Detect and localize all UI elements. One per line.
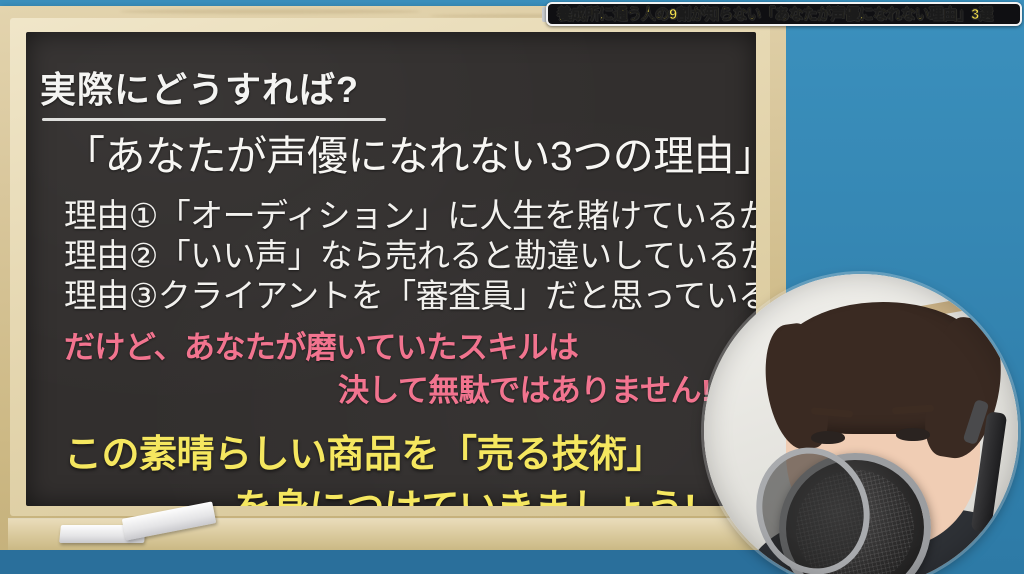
reason-item-3: 理由③クライアントを「審査員」だと思っているから	[64, 279, 756, 312]
presenter-eye-left	[811, 431, 845, 444]
highlight-pink-line-1: だけど、あなたが磨いていたスキルは	[64, 332, 578, 363]
video-title-banner: 養成所に通う人の9割が知らない「あなたが声優になれない理由」3選	[546, 2, 1022, 26]
presenter-eye-right	[896, 428, 930, 441]
page-title: 実際にどうすれば?	[40, 72, 359, 108]
slide-stage: 実際にどうすれば? 「あなたが声優になれない3つの理由」 理由①「オーディション…	[0, 0, 1024, 574]
blackboard-wooden-frame: 実際にどうすれば? 「あなたが声優になれない3つの理由」 理由①「オーディション…	[0, 6, 786, 552]
highlight-yellow-line-2: を身につけていきましょう!	[234, 490, 696, 506]
reason-item-1: 理由①「オーディション」に人生を賭けているから	[64, 199, 756, 232]
presenter-webcam[interactable]	[704, 274, 1018, 574]
wood-grain-streak	[120, 9, 420, 14]
highlight-yellow-line-1: この素晴らしい商品を「売る技術」	[64, 436, 664, 474]
highlight-pink-line-2: 決して無駄ではありません!	[338, 375, 711, 406]
main-title-text: 「あなたが声優になれない3つの理由」	[64, 136, 756, 177]
chalkboard-surface: 実際にどうすれば? 「あなたが声優になれない3つの理由」 理由①「オーディション…	[26, 32, 756, 506]
reason-item-2: 理由②「いい声」なら売れると勘違いしているから	[64, 239, 756, 272]
page-title-underline	[42, 118, 386, 121]
video-title-banner-text: 養成所に通う人の9割が知らない「あなたが声優になれない理由」3選	[557, 7, 993, 22]
